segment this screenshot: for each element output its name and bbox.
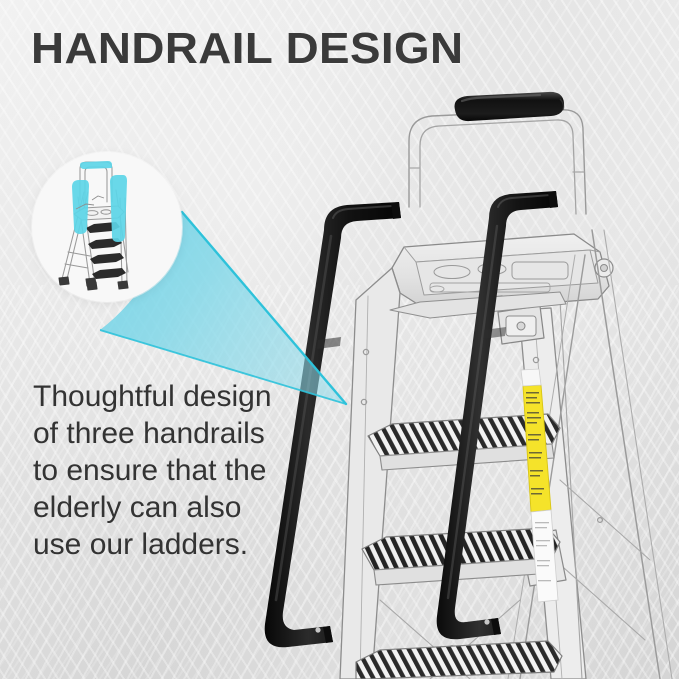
- description-line: elderly can also: [33, 489, 273, 526]
- step-ladder-photo: [0, 0, 679, 679]
- black-foam-top-handle: [455, 92, 565, 121]
- description-line: use our ladders.: [33, 526, 273, 563]
- description-line: Thoughtful design: [33, 378, 273, 415]
- product-feature-banner: HANDRAIL DESIGN Thoughtful design of thr…: [0, 0, 679, 679]
- feature-description: Thoughtful design of three handrails to …: [33, 378, 273, 563]
- page-title: HANDRAIL DESIGN: [31, 24, 464, 74]
- description-line: of three handrails: [33, 415, 273, 452]
- ladder-thumbnail: [32, 152, 182, 302]
- description-line: to ensure that the: [33, 452, 273, 489]
